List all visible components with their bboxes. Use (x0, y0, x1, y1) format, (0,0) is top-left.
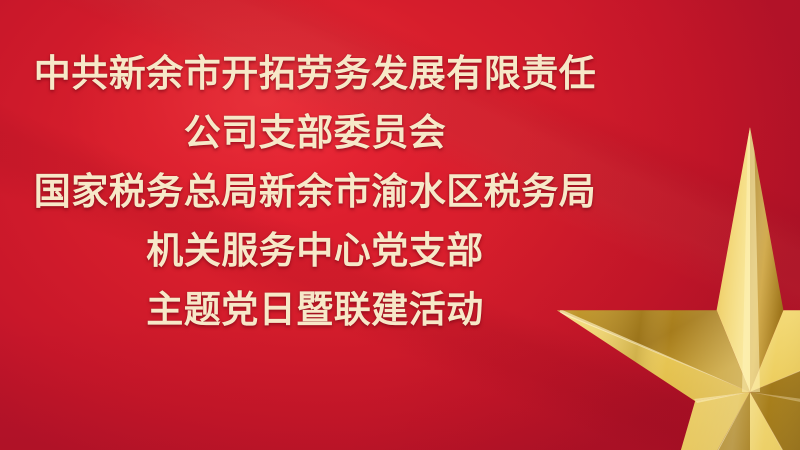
headline-line-4: 机关服务中心党支部 (0, 221, 630, 280)
banner-canvas: 中共新余市开拓劳务发展有限责任 公司支部委员会 国家税务总局新余市渝水区税务局 … (0, 0, 800, 450)
headline-line-1: 中共新余市开拓劳务发展有限责任 (0, 44, 630, 103)
headline-block: 中共新余市开拓劳务发展有限责任 公司支部委员会 国家税务总局新余市渝水区税务局 … (0, 44, 630, 339)
headline-line-3: 国家税务总局新余市渝水区税务局 (0, 162, 630, 221)
headline-line-2: 公司支部委员会 (0, 103, 630, 162)
headline-line-5: 主题党日暨联建活动 (0, 280, 630, 339)
